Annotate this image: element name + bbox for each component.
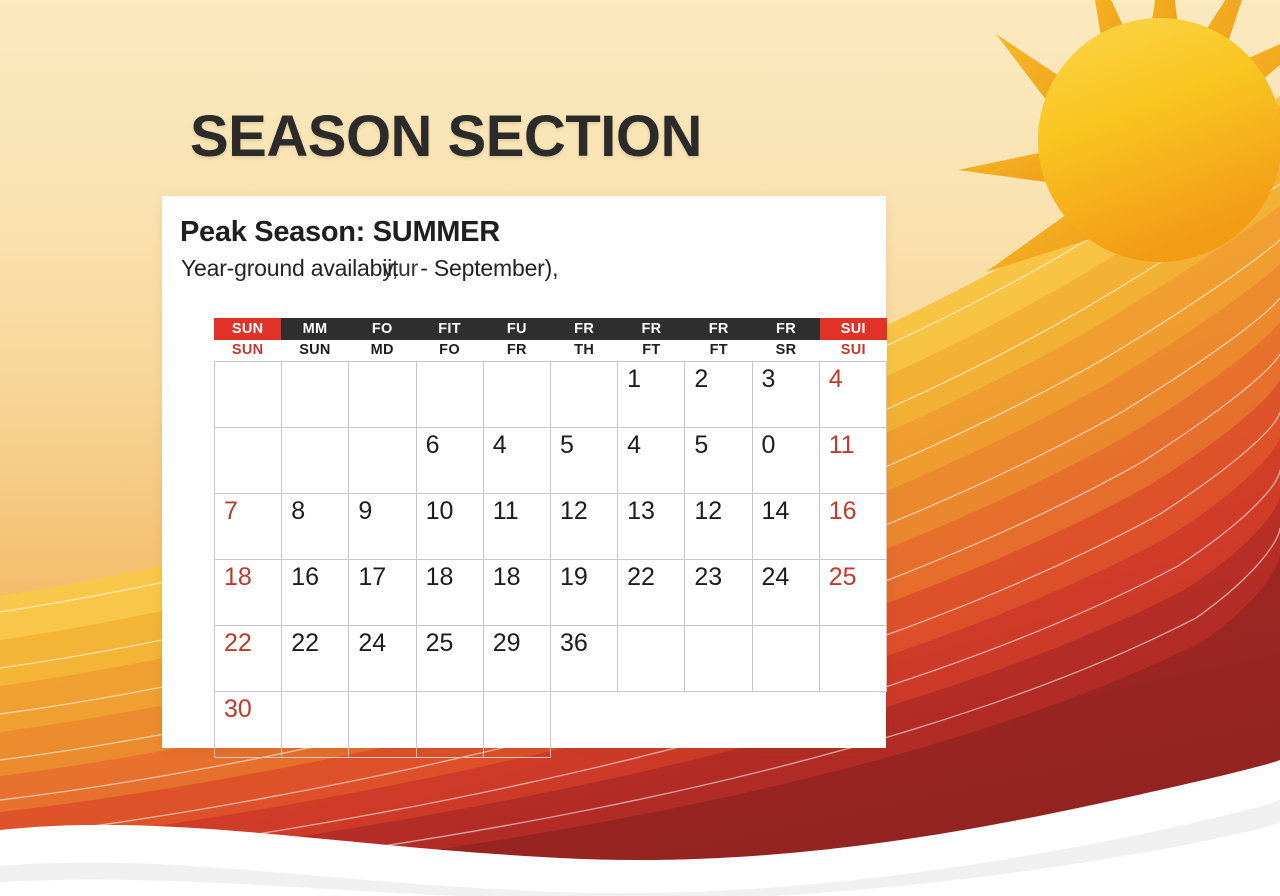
calendar-header-top-1: MM xyxy=(281,318,348,340)
calendar-day-cell[interactable]: 23 xyxy=(685,560,752,626)
calendar-day-cell[interactable]: 24 xyxy=(349,626,416,692)
subtitle-start: Year-ground availabiit xyxy=(181,255,398,281)
calendar-day-cell[interactable]: 18 xyxy=(484,560,551,626)
calendar-empty-cell xyxy=(417,362,484,428)
calendar-header-top-4: FU xyxy=(483,318,550,340)
calendar-header-sub-6: FT xyxy=(618,340,685,361)
calendar-day-number: 29 xyxy=(493,631,521,656)
calendar-day-number: 18 xyxy=(224,565,252,590)
subtitle-end: - September), xyxy=(414,255,558,281)
calendar-day-number: 14 xyxy=(762,499,790,524)
calendar-day-cell[interactable]: 10 xyxy=(417,494,484,560)
calendar-day-cell[interactable]: 25 xyxy=(820,560,887,626)
calendar-week-row: 78910111213121416 xyxy=(215,494,887,560)
calendar-day-number: 24 xyxy=(358,631,386,656)
calendar-day-cell[interactable]: 24 xyxy=(753,560,820,626)
calendar-day-cell[interactable]: 11 xyxy=(484,494,551,560)
calendar-header-top-5: FR xyxy=(550,318,617,340)
calendar-day-number: 22 xyxy=(291,631,319,656)
calendar-day-number: 16 xyxy=(291,565,319,590)
calendar-week-row: 30 xyxy=(215,692,887,758)
calendar-day-cell[interactable]: 14 xyxy=(753,494,820,560)
calendar-day-cell[interactable]: 9 xyxy=(349,494,416,560)
calendar-day-cell[interactable]: 22 xyxy=(215,626,282,692)
calendar-day-number: 23 xyxy=(694,565,722,590)
season-card: Peak Season: SUMMER Year-ground availabi… xyxy=(162,196,886,748)
calendar-empty-cell xyxy=(349,692,416,758)
calendar-day-cell[interactable]: 0 xyxy=(753,428,820,494)
calendar-week-row: 64545011 xyxy=(215,428,887,494)
calendar-day-number: 25 xyxy=(829,565,857,590)
calendar-day-number: 22 xyxy=(224,631,252,656)
calendar-header-top-row: SUNMMFOFITFUFRFRFRFRSUI xyxy=(214,318,887,340)
calendar-day-number: 3 xyxy=(762,367,776,392)
calendar-header-sub-1: SUN xyxy=(281,340,348,361)
calendar-day-cell[interactable]: 18 xyxy=(417,560,484,626)
calendar-week-row: 1234 xyxy=(215,362,887,428)
calendar-day-cell[interactable]: 12 xyxy=(685,494,752,560)
calendar-week-row: 18161718181922232425 xyxy=(215,560,887,626)
calendar-header-sub-row: SUNSUNMDFOFRTHFTFTSRSUI xyxy=(214,340,887,361)
calendar-header-top-6: FR xyxy=(618,318,685,340)
page-title: SEASON SECTION xyxy=(190,103,702,170)
calendar-day-cell[interactable]: 8 xyxy=(282,494,349,560)
calendar-day-number: 6 xyxy=(426,433,440,458)
calendar-empty-cell xyxy=(282,362,349,428)
calendar-day-cell[interactable]: 7 xyxy=(215,494,282,560)
calendar-empty-cell xyxy=(282,692,349,758)
calendar-day-cell[interactable]: 29 xyxy=(484,626,551,692)
calendar-day-number: 8 xyxy=(291,499,305,524)
calendar-day-cell[interactable]: 2 xyxy=(685,362,752,428)
calendar-day-cell[interactable]: 11 xyxy=(820,428,887,494)
calendar-day-number: 19 xyxy=(560,565,588,590)
calendar-header-sub-3: FO xyxy=(416,340,483,361)
calendar-day-cell[interactable]: 6 xyxy=(417,428,484,494)
calendar-day-number: 30 xyxy=(224,697,252,722)
calendar-empty-cell xyxy=(551,692,618,758)
calendar-day-cell[interactable]: 16 xyxy=(820,494,887,560)
calendar-header-sub-7: FT xyxy=(685,340,752,361)
calendar-empty-cell xyxy=(215,362,282,428)
calendar-day-number: 4 xyxy=(829,367,843,392)
calendar-day-number: 16 xyxy=(829,499,857,524)
calendar-day-number: 4 xyxy=(627,433,641,458)
calendar-day-cell[interactable]: 5 xyxy=(685,428,752,494)
calendar-empty-cell xyxy=(820,626,887,692)
calendar-empty-cell xyxy=(282,428,349,494)
calendar-day-cell[interactable]: 4 xyxy=(820,362,887,428)
calendar-day-cell[interactable]: 4 xyxy=(618,428,685,494)
calendar-day-number: 2 xyxy=(694,367,708,392)
calendar-day-number: 13 xyxy=(627,499,655,524)
calendar-day-number: 11 xyxy=(493,499,519,524)
calendar-day-number: 12 xyxy=(560,499,588,524)
calendar-empty-cell xyxy=(618,692,685,758)
calendar-empty-cell xyxy=(484,362,551,428)
calendar-day-number: 7 xyxy=(224,499,238,524)
calendar-empty-cell xyxy=(753,692,820,758)
calendar-day-number: 5 xyxy=(560,433,574,458)
calendar-day-cell[interactable]: 30 xyxy=(215,692,282,758)
calendar-day-cell[interactable]: 5 xyxy=(551,428,618,494)
calendar-empty-cell xyxy=(551,362,618,428)
calendar-day-number: 12 xyxy=(694,499,722,524)
calendar-empty-cell xyxy=(820,692,887,758)
calendar-day-number: 17 xyxy=(358,565,386,590)
calendar-header-top-3: FIT xyxy=(416,318,483,340)
calendar-day-cell[interactable]: 19 xyxy=(551,560,618,626)
calendar-header-top-9: SUI xyxy=(820,318,887,340)
calendar-empty-cell xyxy=(618,626,685,692)
calendar-empty-cell xyxy=(484,692,551,758)
calendar-day-cell[interactable]: 16 xyxy=(282,560,349,626)
calendar-empty-cell xyxy=(685,626,752,692)
calendar-day-cell[interactable]: 22 xyxy=(282,626,349,692)
calendar-day-cell[interactable]: 12 xyxy=(551,494,618,560)
calendar-empty-cell xyxy=(349,362,416,428)
calendar-day-cell[interactable]: 36 xyxy=(551,626,618,692)
calendar-day-number: 5 xyxy=(694,433,708,458)
calendar-header-top-0: SUN xyxy=(214,318,281,340)
calendar-date-grid: 1234645450117891011121312141618161718181… xyxy=(214,361,887,758)
calendar-header-top-7: FR xyxy=(685,318,752,340)
calendar-day-number: 22 xyxy=(627,565,655,590)
calendar-empty-cell xyxy=(417,692,484,758)
card-heading: Peak Season: SUMMER xyxy=(180,216,500,249)
calendar-day-number: 25 xyxy=(426,631,454,656)
calendar-day-cell[interactable]: 3 xyxy=(753,362,820,428)
calendar-day-cell[interactable]: 1 xyxy=(618,362,685,428)
calendar-header-top-8: FR xyxy=(752,318,819,340)
calendar-header-sub-8: SR xyxy=(752,340,819,361)
calendar-header-sub-5: TH xyxy=(550,340,617,361)
calendar-day-number: 18 xyxy=(493,565,521,590)
calendar-day-cell[interactable]: 4 xyxy=(484,428,551,494)
calendar-day-number: 4 xyxy=(493,433,507,458)
calendar-day-number: 24 xyxy=(762,565,790,590)
calendar-header-sub-0: SUN xyxy=(214,340,281,361)
calendar-day-number: 1 xyxy=(627,367,641,392)
calendar-empty-cell xyxy=(753,626,820,692)
calendar-empty-cell xyxy=(685,692,752,758)
calendar-day-cell[interactable]: 17 xyxy=(349,560,416,626)
calendar-day-cell[interactable]: 25 xyxy=(417,626,484,692)
calendar-empty-cell xyxy=(215,428,282,494)
calendar-empty-cell xyxy=(349,428,416,494)
calendar-day-cell[interactable]: 22 xyxy=(618,560,685,626)
calendar-week-row: 222224252936 xyxy=(215,626,887,692)
subtitle-overlap: y,ur xyxy=(382,255,418,282)
calendar-day-number: 36 xyxy=(560,631,588,656)
calendar-header-sub-9: SUI xyxy=(820,340,887,361)
calendar-header-sub-2: MD xyxy=(349,340,416,361)
calendar-day-number: 18 xyxy=(426,565,454,590)
calendar-day-number: 0 xyxy=(762,433,776,458)
calendar-header-sub-4: FR xyxy=(483,340,550,361)
calendar-day-cell[interactable]: 18 xyxy=(215,560,282,626)
calendar: SUNMMFOFITFUFRFRFRFRSUI SUNSUNMDFOFRTHFT… xyxy=(214,318,887,758)
calendar-day-number: 9 xyxy=(358,499,372,524)
calendar-day-cell[interactable]: 13 xyxy=(618,494,685,560)
calendar-day-number: 10 xyxy=(426,499,454,524)
poster-canvas: SEASON SECTION Peak Season: SUMMER Year-… xyxy=(0,0,1280,896)
calendar-day-number: 11 xyxy=(829,433,855,458)
calendar-header-top-2: FO xyxy=(349,318,416,340)
card-subtitle: Year-ground availabiity,ur - September), xyxy=(181,255,558,282)
